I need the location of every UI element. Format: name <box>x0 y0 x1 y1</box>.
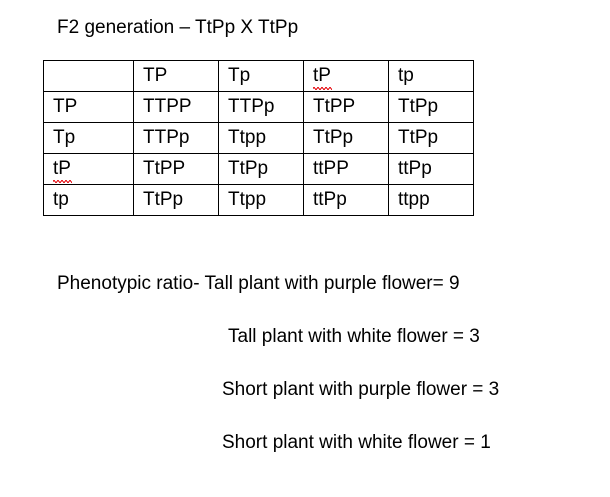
row-header-label: tP <box>53 154 71 184</box>
table-row: tP TtPP TtPp ttPP ttPp <box>44 154 474 185</box>
genotype-cell: TTPP <box>134 92 219 123</box>
genotype-cell: TtPp <box>389 123 474 154</box>
genotype-cell: ttPp <box>304 185 389 216</box>
genotype-cell: TtPp <box>134 185 219 216</box>
phenotypic-ratio-line-tall-white: Tall plant with white flower = 3 <box>228 325 480 349</box>
column-header-tp-recessive-both: tp <box>389 61 474 92</box>
row-header-tp-recessive-t: tP <box>44 154 134 185</box>
table-header-row: TP Tp tP tp <box>44 61 474 92</box>
row-header-label: TP <box>53 96 77 117</box>
column-header-tp-recessive-p: Tp <box>219 61 304 92</box>
phenotypic-ratio-line-short-white: Short plant with white flower = 1 <box>222 431 491 455</box>
genotype-cell: TtPP <box>304 92 389 123</box>
phenotypic-ratio-line-tall-purple: Phenotypic ratio- Tall plant with purple… <box>57 272 460 296</box>
genotype-cell: TtPp <box>304 123 389 154</box>
table-row: Tp TTPp Ttpp TtPp TtPp <box>44 123 474 154</box>
column-header-tp-recessive-t: tP <box>304 61 389 92</box>
row-header-tp-dominant: TP <box>44 92 134 123</box>
punnett-square: TP Tp tP tp TP TTPP TTPp TtPP TtPp Tp TT… <box>43 60 424 216</box>
genotype-cell: TTPp <box>219 92 304 123</box>
row-header-label: tp <box>53 189 69 210</box>
genotype-cell: ttPp <box>389 154 474 185</box>
row-header-label: Tp <box>53 127 75 148</box>
column-header-tp-dominant: TP <box>134 61 219 92</box>
row-header-tp-recessive-p: Tp <box>44 123 134 154</box>
genotype-cell: ttpp <box>389 185 474 216</box>
genotype-cell: TtPp <box>219 154 304 185</box>
genotype-cell: Ttpp <box>219 185 304 216</box>
column-header-label: TP <box>143 65 167 86</box>
column-header-label: Tp <box>228 65 250 86</box>
punnett-corner-cell <box>44 61 134 92</box>
phenotypic-ratio-line-short-purple: Short plant with purple flower = 3 <box>222 378 499 402</box>
column-header-label: tP <box>313 61 331 91</box>
genotype-cell: Ttpp <box>219 123 304 154</box>
genotype-cell: ttPP <box>304 154 389 185</box>
row-header-tp-recessive-both: tp <box>44 185 134 216</box>
column-header-label: tp <box>398 65 414 86</box>
page-title: F2 generation – TtPp X TtPp <box>57 16 298 40</box>
genotype-cell: TtPp <box>389 92 474 123</box>
genotype-cell: TTPp <box>134 123 219 154</box>
punnett-table: TP Tp tP tp TP TTPP TTPp TtPP TtPp Tp TT… <box>43 60 474 216</box>
table-row: TP TTPP TTPp TtPP TtPp <box>44 92 474 123</box>
genotype-cell: TtPP <box>134 154 219 185</box>
table-row: tp TtPp Ttpp ttPp ttpp <box>44 185 474 216</box>
